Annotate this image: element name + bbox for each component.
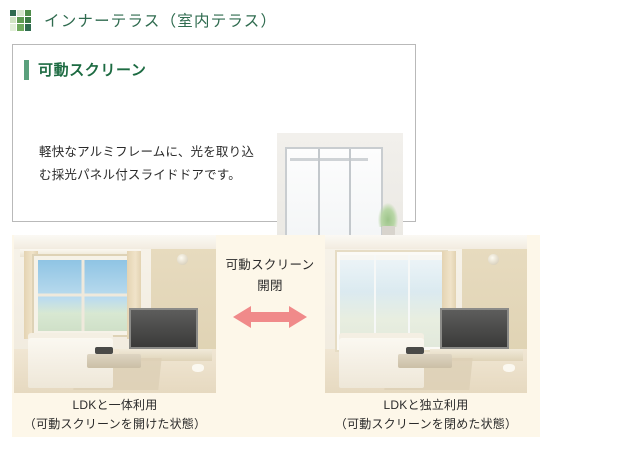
caption-open-line1: LDKと一体利用 [12, 396, 218, 415]
screen-head-rail [340, 255, 443, 260]
caption-closed: LDKと独立利用 （可動スクリーンを閉めた状態） [323, 396, 529, 434]
grid-cell [25, 17, 31, 23]
photo-screen-mullion [318, 149, 320, 235]
photo-screen-rail [290, 158, 367, 161]
room-wall-lamp [177, 254, 188, 265]
grid-cell [17, 17, 23, 23]
caption-open-line2: （可動スクリーンを開けた状態） [12, 415, 218, 434]
feature-card: 可動スクリーン 軽快なアルミフレームに、光を取り込む採光パネル付スライドドアです… [12, 44, 416, 222]
room-image-open [14, 235, 216, 393]
photo-plant-leaves [378, 203, 398, 227]
room-window-open [34, 256, 131, 335]
room-television [129, 308, 198, 349]
room-television [440, 308, 509, 349]
photo-screen-frame [285, 147, 383, 237]
double-arrow-horizontal-icon [233, 303, 307, 331]
center-annotation-line2: 開閉 [206, 276, 334, 297]
photo-screen-mullion [349, 149, 351, 235]
room-coffee-table [398, 354, 453, 368]
room-image-closed [325, 235, 527, 393]
grid-cell [10, 24, 16, 30]
caption-closed-line1: LDKと独立利用 [323, 396, 529, 415]
room-wall-lamp [488, 254, 499, 265]
product-photo [277, 133, 403, 251]
card-heading-label: 可動スクリーン [38, 59, 146, 80]
caption-open: LDKと一体利用 （可動スクリーンを開けた状態） [12, 396, 218, 434]
grid-cell [17, 24, 23, 30]
center-annotation: 可動スクリーン 開閉 [206, 255, 334, 297]
page-title: インナーテラス（室内テラス） [44, 9, 277, 31]
grid-cell [10, 10, 16, 16]
page-header: インナーテラス（室内テラス） [0, 0, 640, 40]
grid-cell [17, 10, 23, 16]
grid-cell [25, 10, 31, 16]
heading-accent-bar [24, 60, 29, 80]
grid-cell [10, 17, 16, 23]
grid-icon [10, 10, 31, 31]
card-heading: 可動スクリーン [24, 59, 146, 80]
card-description: 軽快なアルミフレームに、光を取り込む採光パネル付スライドドアです。 [39, 141, 261, 187]
room-table-remote [95, 347, 113, 353]
room-ceiling [14, 235, 216, 249]
arrow-container [206, 303, 334, 331]
room-coffee-table [87, 354, 142, 368]
center-annotation-line1: 可動スクリーン [206, 255, 334, 276]
window-mullion-horizontal [38, 294, 127, 297]
caption-closed-line2: （可動スクリーンを閉めた状態） [323, 415, 529, 434]
room-table-remote [406, 347, 424, 353]
room-ceiling [325, 235, 527, 249]
grid-cell [25, 24, 31, 30]
